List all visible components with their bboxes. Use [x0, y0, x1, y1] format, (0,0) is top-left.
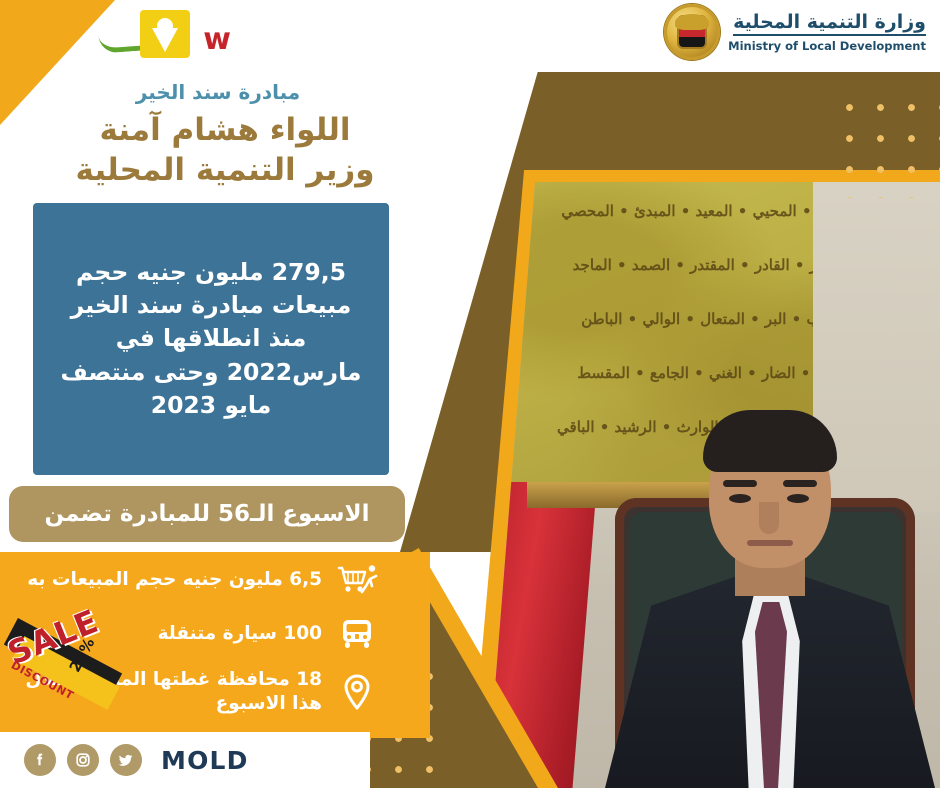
social-handle: MOLD: [161, 746, 249, 775]
dot-pattern: [828, 86, 940, 198]
facebook-icon[interactable]: [24, 744, 56, 776]
eye-right: [787, 494, 809, 503]
headline-line-2: وزير التنمية المحلية: [40, 150, 410, 190]
logo-red-mark: w: [191, 30, 231, 50]
stat-item-sales: 6,5 مليون جنيه حجم المبيعات به: [0, 560, 392, 600]
ministry-name-english: Ministry of Local Development: [728, 39, 926, 53]
minister-headline: اللواء هشام آمنة وزير التنمية المحلية: [40, 110, 410, 191]
stat-text-sales: 6,5 مليون جنيه حجم المبيعات به: [27, 568, 322, 592]
dot-grid-top-right: [828, 86, 940, 198]
mouth: [747, 540, 793, 546]
shopping-cart-icon: [334, 560, 380, 600]
stat-text-vehicles: 100 سيارة متنقلة: [158, 622, 322, 646]
location-pin-icon: [334, 672, 380, 712]
top-left-yellow-triangle: [0, 0, 115, 125]
ministry-text-block: وزارة التنمية المحلية Ministry of Local …: [728, 11, 926, 53]
bus-icon: [334, 614, 380, 654]
egypt-eagle-emblem: [664, 4, 720, 60]
sales-summary-text: 279,5 مليون جنيه حجم مبيعات مبادرة سند ا…: [49, 256, 373, 423]
headline-line-1: اللواء هشام آمنة: [40, 110, 410, 150]
sales-summary-box: 279,5 مليون جنيه حجم مبيعات مبادرة سند ا…: [33, 203, 389, 475]
minister-portrait: المهيمن • المحيي • المعيد • المبدئ • الم…: [487, 182, 940, 788]
eye-left: [729, 494, 751, 503]
twitter-icon[interactable]: [110, 744, 142, 776]
eyebrow-left: [723, 480, 757, 487]
eyebrow-right: [783, 480, 817, 487]
sanad-logo[interactable]: w: [99, 6, 231, 62]
week-banner: الاسبوع الـ56 للمبادرة تضمن: [9, 486, 405, 542]
footer-social-bar: MOLD: [0, 732, 370, 788]
ministry-name-arabic: وزارة التنمية المحلية: [733, 11, 926, 36]
instagram-icon[interactable]: [67, 744, 99, 776]
hair: [703, 410, 837, 472]
minister-figure: [605, 418, 935, 788]
sale-badge: SALE DISCOUNT 25%: [2, 600, 120, 718]
logo-green-swoosh: [98, 32, 145, 53]
initiative-subtitle: مبادرة سند الخير: [68, 80, 368, 104]
poster-canvas: المهيمن • المحيي • المعيد • المبدئ • الم…: [0, 0, 940, 788]
logo-head-circle: [157, 18, 173, 34]
nose: [759, 502, 779, 534]
week-banner-text: الاسبوع الـ56 للمبادرة تضمن: [44, 501, 369, 527]
ministry-branding: وزارة التنمية المحلية Ministry of Local …: [664, 4, 926, 60]
